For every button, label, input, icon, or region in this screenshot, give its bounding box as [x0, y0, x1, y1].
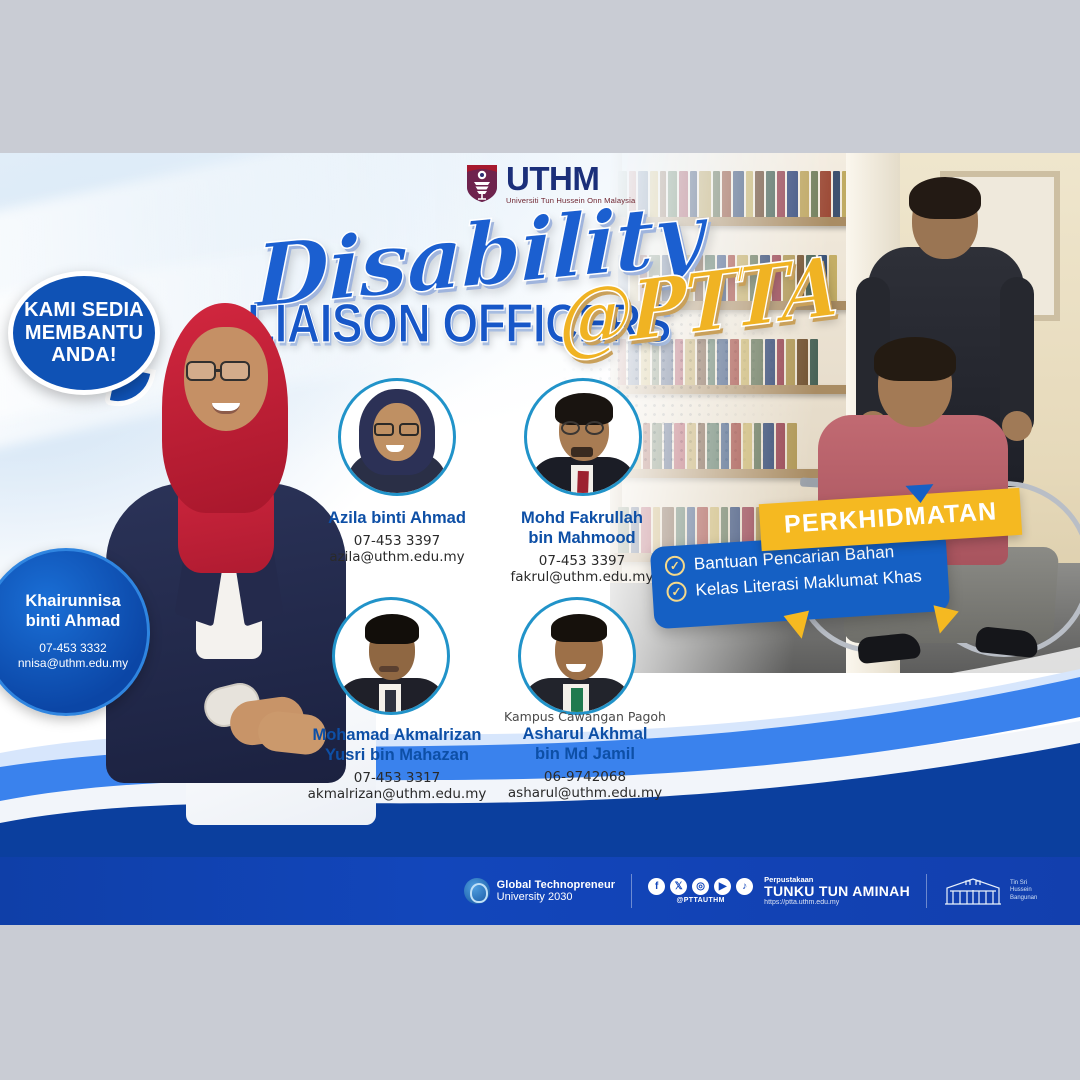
technopreneur-badge: Global Technopreneur University 2030 [448, 878, 632, 904]
officer-email[interactable]: akmalrizan@uthm.edu.my [290, 786, 504, 802]
officer-name-line2: bin Mahmood [482, 528, 682, 548]
library-url[interactable]: https://ptta.uthm.edu.my [764, 899, 910, 907]
officer-portrait-asharul [518, 597, 636, 715]
bubble-line-3: ANDA! [24, 344, 144, 367]
library-name: TUNKU TUN AMINAH [764, 884, 910, 899]
screenshot-stage: PERPUSTAKAAN TUNKU TUN AMINAH [0, 0, 1080, 1080]
social-handle: @PTTAUTHM [676, 897, 724, 904]
building-logo-block: Tin Sri Hussein Bangunan [927, 875, 1072, 907]
officer-portrait-fakrullah [524, 378, 642, 496]
officer-phone: 07-453 3317 [290, 770, 504, 786]
officer-portrait-akmalrizan [332, 597, 450, 715]
officer-email[interactable]: asharul@uthm.edu.my [478, 785, 692, 801]
x-twitter-icon[interactable]: 𝕏 [670, 878, 687, 895]
officer-name-line1: Mohd Fakrullah [482, 508, 682, 528]
services-arrow-left [784, 611, 815, 642]
footer-bar: Global Technopreneur University 2030 f 𝕏… [0, 857, 1080, 925]
services-tag-notch [905, 484, 934, 504]
social-and-library-block: f 𝕏 ◎ ▶ ♪ @PTTAUTHM Perpustakaan TUNKU T… [632, 876, 926, 907]
tiktok-icon[interactable]: ♪ [736, 878, 753, 895]
officer-phone: 07-453 3397 [297, 533, 497, 549]
officer-name-line2: Yusri bin Mahazan [290, 745, 504, 765]
uthm-shield-icon [465, 163, 499, 203]
featured-officer-email[interactable]: nnisa@uthm.edu.my [18, 656, 128, 672]
officer-info-asharul: Kampus Cawangan Pagoh Asharul Akhmal bin… [478, 709, 692, 801]
officer-portrait-azila [338, 378, 456, 496]
uthm-wordmark: UTHM [506, 162, 635, 195]
officer-name-line2: bin Md Jamil [478, 744, 692, 764]
featured-officer-name-1: Khairunnisa [25, 592, 120, 612]
bubble-line-1: KAMI SEDIA [24, 299, 144, 322]
officer-name-line1: Asharul Akhmal [478, 724, 692, 744]
officer-name-line1: Azila binti Ahmad [297, 508, 497, 528]
officer-name-line1: Mohamad Akmalrizan [290, 725, 504, 745]
officer-info-azila: Azila binti Ahmad 07-453 3397 azila@uthm… [297, 508, 497, 565]
technopreneur-line1: Global Technopreneur [497, 879, 616, 891]
officer-email[interactable]: azila@uthm.edu.my [297, 549, 497, 565]
check-icon: ✓ [666, 581, 687, 602]
poster-canvas: PERPUSTAKAAN TUNKU TUN AMINAH [0, 153, 1080, 925]
building-tagline-3: Bangunan [1010, 895, 1056, 903]
officer-info-akmalrizan: Mohamad Akmalrizan Yusri bin Mahazan 07-… [290, 725, 504, 802]
instagram-icon[interactable]: ◎ [692, 878, 709, 895]
globe-brain-icon [464, 878, 490, 904]
check-icon: ✓ [664, 555, 685, 576]
featured-officer-name-2: binti Ahmad [25, 612, 120, 632]
facebook-icon[interactable]: f [648, 878, 665, 895]
speech-bubble: KAMI SEDIA MEMBANTU ANDA! [8, 271, 160, 395]
officer-campus-label: Kampus Cawangan Pagoh [478, 709, 692, 724]
technopreneur-line2: University 2030 [497, 891, 616, 903]
featured-officer-phone: 07-453 3332 [18, 641, 128, 657]
youtube-icon[interactable]: ▶ [714, 878, 731, 895]
building-tagline-1: Tin Sri [1010, 880, 1056, 888]
building-tagline-2: Hussein [1010, 887, 1056, 895]
library-building-icon [943, 875, 1003, 907]
bubble-line-2: MEMBANTU [24, 322, 144, 345]
officer-phone: 06-9742068 [478, 769, 692, 785]
